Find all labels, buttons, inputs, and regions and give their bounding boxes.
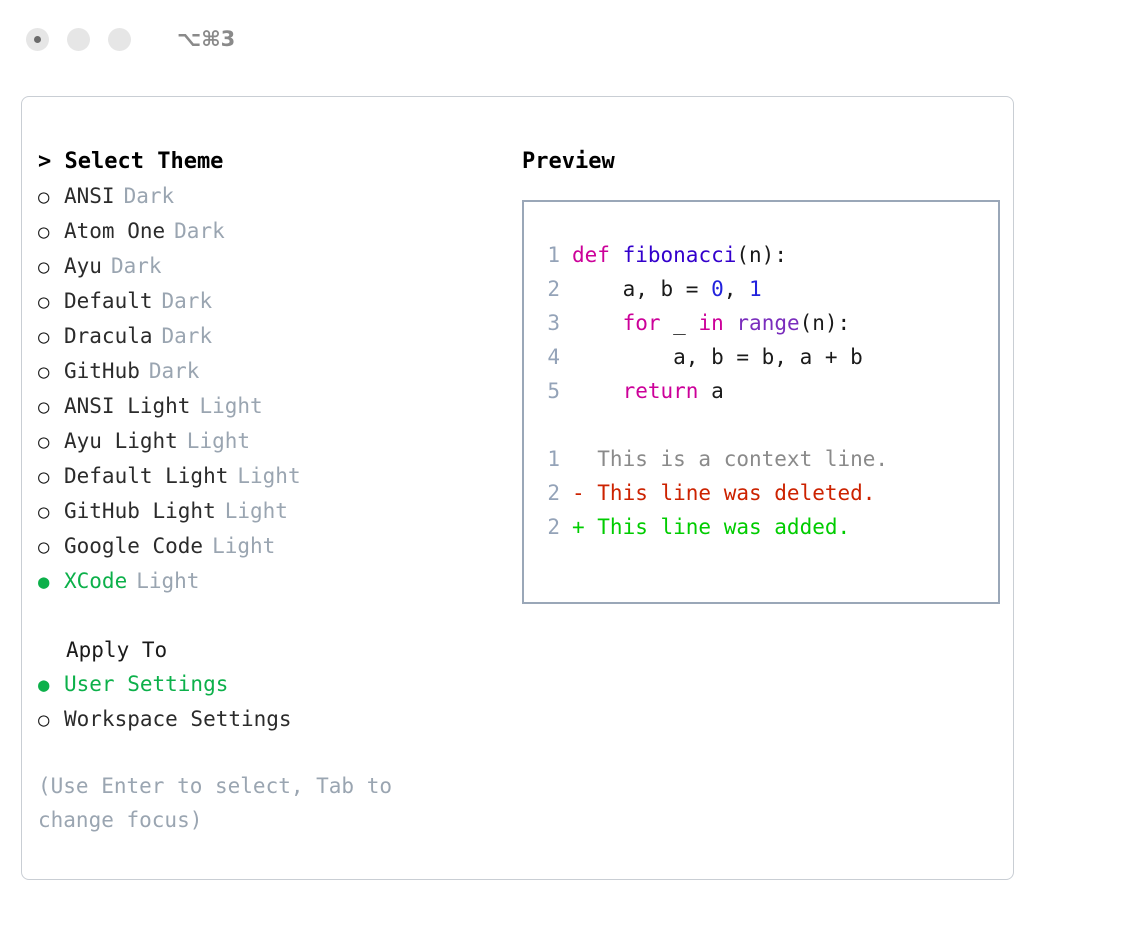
- theme-option-xcode[interactable]: ●XCodeLight: [38, 564, 500, 599]
- code-token: 1: [749, 277, 762, 301]
- theme-option-label: Ayu: [64, 249, 102, 283]
- code-token: (n):: [736, 243, 787, 267]
- code-line-text: a, b = b, a + b: [572, 340, 863, 374]
- theme-option-tag: Dark: [102, 249, 162, 283]
- keyboard-hint-text: (Use Enter to select, Tab to change focu…: [38, 769, 448, 837]
- theme-option-tag: Light: [127, 564, 199, 598]
- line-number: 2: [542, 476, 572, 510]
- radio-unselected-icon: ○: [38, 180, 64, 214]
- code-token: a, b = b, a + b: [572, 345, 863, 369]
- diff-line-text: + This line was added.: [572, 510, 850, 544]
- theme-option-ayu[interactable]: ○AyuDark: [38, 249, 500, 284]
- code-token: + This line was added.: [572, 515, 850, 539]
- section-spacer: [38, 599, 500, 633]
- theme-option-label: Google Code: [64, 529, 203, 563]
- theme-option-label: ANSI: [64, 179, 115, 213]
- apply-to-heading: Apply To: [38, 633, 500, 667]
- theme-option-github[interactable]: ○GitHubDark: [38, 354, 500, 389]
- theme-option-default-light[interactable]: ○Default LightLight: [38, 459, 500, 494]
- radio-unselected-icon: ○: [38, 495, 64, 529]
- preview-box: 1def fibonacci(n):2 a, b = 0, 13 for _ i…: [522, 200, 1000, 604]
- code-line: 4 a, b = b, a + b: [542, 340, 998, 374]
- code-diff-spacer: [542, 408, 998, 442]
- radio-selected-icon: ●: [38, 668, 64, 702]
- diff-line-text: - This line was deleted.: [572, 476, 875, 510]
- theme-option-tag: Light: [228, 459, 300, 493]
- line-number: 4: [542, 340, 572, 374]
- line-number: 5: [542, 374, 572, 408]
- theme-option-tag: Light: [190, 389, 262, 423]
- theme-option-tag: Dark: [165, 214, 225, 248]
- theme-option-atom-one[interactable]: ○Atom OneDark: [38, 214, 500, 249]
- code-token: [724, 311, 737, 335]
- apply-option-workspace-settings[interactable]: ○Workspace Settings: [38, 702, 500, 737]
- line-number: 3: [542, 306, 572, 340]
- code-token: a: [698, 379, 723, 403]
- radio-unselected-icon: ○: [38, 250, 64, 284]
- code-line: 3 for _ in range(n):: [542, 306, 998, 340]
- code-line-text: def fibonacci(n):: [572, 238, 787, 272]
- code-line-text: for _ in range(n):: [572, 306, 850, 340]
- theme-option-label: GitHub Light: [64, 494, 216, 528]
- traffic-light-second-icon[interactable]: [67, 28, 90, 51]
- theme-option-label: XCode: [64, 564, 127, 598]
- diff-line: 2- This line was deleted.: [542, 476, 998, 510]
- theme-option-label: Default: [64, 284, 153, 318]
- radio-unselected-icon: ○: [38, 530, 64, 564]
- theme-option-ayu-light[interactable]: ○Ayu LightLight: [38, 424, 500, 459]
- theme-picker-window: > Select Theme ○ANSIDark○Atom OneDark○Ay…: [21, 96, 1014, 880]
- theme-option-tag: Dark: [140, 354, 200, 388]
- theme-option-ansi-light[interactable]: ○ANSI LightLight: [38, 389, 500, 424]
- traffic-light-active-icon[interactable]: [26, 28, 49, 51]
- code-token: for: [623, 311, 661, 335]
- theme-option-label: Default Light: [64, 459, 228, 493]
- code-token: [572, 311, 623, 335]
- code-token: def: [572, 243, 610, 267]
- apply-to-list: ●User Settings○Workspace Settings: [38, 667, 500, 737]
- theme-option-tag: Dark: [153, 284, 213, 318]
- code-line: 5 return a: [542, 374, 998, 408]
- apply-option-label: User Settings: [64, 667, 228, 701]
- theme-option-default[interactable]: ○DefaultDark: [38, 284, 500, 319]
- radio-unselected-icon: ○: [38, 703, 64, 737]
- radio-unselected-icon: ○: [38, 215, 64, 249]
- code-line: 1def fibonacci(n):: [542, 238, 998, 272]
- active-dot-inner: [34, 36, 41, 43]
- code-token: 0: [711, 277, 724, 301]
- line-number: 1: [542, 442, 572, 476]
- theme-option-tag: Dark: [115, 179, 175, 213]
- preview-heading: Preview: [522, 145, 1013, 179]
- theme-option-tag: Light: [216, 494, 288, 528]
- theme-option-github-light[interactable]: ○GitHub LightLight: [38, 494, 500, 529]
- theme-option-label: ANSI Light: [64, 389, 190, 423]
- theme-option-label: Atom One: [64, 214, 165, 248]
- radio-unselected-icon: ○: [38, 425, 64, 459]
- theme-list: ○ANSIDark○Atom OneDark○AyuDark○DefaultDa…: [38, 179, 500, 599]
- radio-unselected-icon: ○: [38, 460, 64, 494]
- preview-pane: Preview 1def fibonacci(n):2 a, b = 0, 13…: [500, 145, 1013, 837]
- window-titlebar: ⌥⌘3: [0, 0, 1140, 78]
- code-sample: 1def fibonacci(n):2 a, b = 0, 13 for _ i…: [542, 238, 998, 408]
- traffic-light-third-icon[interactable]: [108, 28, 131, 51]
- theme-option-google-code[interactable]: ○Google CodeLight: [38, 529, 500, 564]
- code-token: _: [661, 311, 699, 335]
- code-token: return: [623, 379, 699, 403]
- code-token: ,: [724, 277, 749, 301]
- code-line-text: a, b = 0, 1: [572, 272, 762, 306]
- code-token: - This line was deleted.: [572, 481, 875, 505]
- theme-option-label: Ayu Light: [64, 424, 178, 458]
- theme-option-label: Dracula: [64, 319, 153, 353]
- code-token: This is a context line.: [572, 447, 888, 471]
- code-token: [610, 243, 623, 267]
- code-token: range: [736, 311, 799, 335]
- apply-option-user-settings[interactable]: ●User Settings: [38, 667, 500, 702]
- line-number: 2: [542, 272, 572, 306]
- theme-option-tag: Light: [178, 424, 250, 458]
- line-number: 1: [542, 238, 572, 272]
- apply-option-label: Workspace Settings: [64, 702, 292, 736]
- window-controls: [26, 28, 131, 51]
- line-number: 2: [542, 510, 572, 544]
- theme-option-label: GitHub: [64, 354, 140, 388]
- theme-option-tag: Light: [203, 529, 275, 563]
- window-body: > Select Theme ○ANSIDark○Atom OneDark○Ay…: [22, 97, 1013, 837]
- radio-unselected-icon: ○: [38, 355, 64, 389]
- code-token: fibonacci: [623, 243, 737, 267]
- code-token: a, b =: [572, 277, 711, 301]
- code-token: in: [698, 311, 723, 335]
- theme-option-ansi[interactable]: ○ANSIDark: [38, 179, 500, 214]
- theme-option-tag: Dark: [153, 319, 213, 353]
- diff-sample: 1 This is a context line.2- This line wa…: [542, 442, 998, 544]
- code-line: 2 a, b = 0, 1: [542, 272, 998, 306]
- radio-unselected-icon: ○: [38, 320, 64, 354]
- keyboard-shortcut-label: ⌥⌘3: [177, 27, 235, 51]
- diff-line: 1 This is a context line.: [542, 442, 998, 476]
- radio-selected-icon: ●: [38, 565, 64, 599]
- diff-line-text: This is a context line.: [572, 442, 888, 476]
- radio-unselected-icon: ○: [38, 390, 64, 424]
- code-line-text: return a: [572, 374, 724, 408]
- code-token: (n):: [800, 311, 851, 335]
- code-token: [572, 379, 623, 403]
- diff-line: 2+ This line was added.: [542, 510, 998, 544]
- theme-selection-pane: > Select Theme ○ANSIDark○Atom OneDark○Ay…: [38, 145, 500, 837]
- select-theme-heading: > Select Theme: [38, 145, 500, 179]
- radio-unselected-icon: ○: [38, 285, 64, 319]
- theme-option-dracula[interactable]: ○DraculaDark: [38, 319, 500, 354]
